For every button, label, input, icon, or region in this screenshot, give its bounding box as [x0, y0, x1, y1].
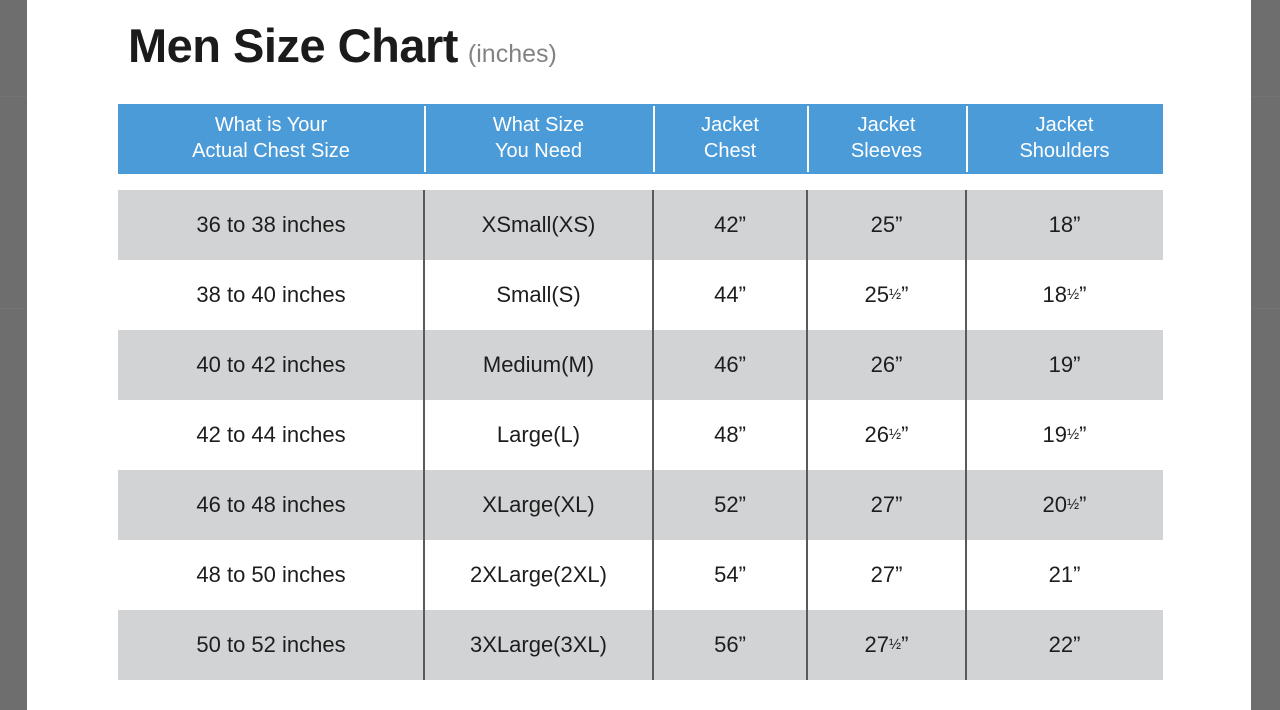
table-body: 36 to 38 inchesXSmall(XS)42”25”18”38 to … — [118, 190, 1163, 680]
table-row: 48 to 50 inches2XLarge(2XL)54”27”21” — [118, 540, 1163, 610]
cell-size-you-need: XSmall(XS) — [424, 190, 653, 260]
cell-actual-chest-size: 50 to 52 inches — [118, 610, 424, 680]
cell-jacket-shoulders: 19” — [966, 330, 1163, 400]
cell-jacket-sleeves: 25½” — [807, 260, 966, 330]
cell-jacket-shoulders: 18” — [966, 190, 1163, 260]
cell-jacket-sleeves: 26” — [807, 330, 966, 400]
column-header-line1: What Size — [493, 113, 584, 139]
cell-size-you-need: Small(S) — [424, 260, 653, 330]
page-title-main: Men Size Chart — [128, 22, 458, 69]
cell-jacket-chest: 48” — [653, 400, 807, 470]
table-row: 40 to 42 inchesMedium(M)46”26”19” — [118, 330, 1163, 400]
column-header-line2: Shoulders — [1019, 139, 1109, 165]
letterbox-right — [1251, 0, 1280, 710]
cell-actual-chest-size: 38 to 40 inches — [118, 260, 424, 330]
screenshot-root: Men Size Chart (inches) What is Your Act… — [0, 0, 1280, 710]
table-row: 36 to 38 inchesXSmall(XS)42”25”18” — [118, 190, 1163, 260]
table-row: 46 to 48 inchesXLarge(XL)52”27”20½” — [118, 470, 1163, 540]
cell-jacket-sleeves: 27” — [807, 540, 966, 610]
letterbox-seam — [1251, 308, 1280, 309]
letterbox-seam — [0, 308, 27, 309]
page-title: Men Size Chart (inches) — [128, 22, 557, 69]
cell-jacket-chest: 44” — [653, 260, 807, 330]
cell-actual-chest-size: 40 to 42 inches — [118, 330, 424, 400]
letterbox-left — [0, 0, 27, 710]
cell-jacket-chest: 52” — [653, 470, 807, 540]
cell-size-you-need: Large(L) — [424, 400, 653, 470]
cell-actual-chest-size: 46 to 48 inches — [118, 470, 424, 540]
column-header-line2: You Need — [495, 139, 582, 165]
column-header-jacket-shoulders: Jacket Shoulders — [966, 104, 1163, 174]
cell-jacket-sleeves: 27” — [807, 470, 966, 540]
content-sheet: Men Size Chart (inches) What is Your Act… — [27, 0, 1251, 710]
column-header-jacket-chest: Jacket Chest — [653, 104, 807, 174]
cell-jacket-shoulders: 22” — [966, 610, 1163, 680]
cell-jacket-sleeves: 25” — [807, 190, 966, 260]
column-header-actual-chest-size: What is Your Actual Chest Size — [118, 104, 424, 174]
cell-jacket-shoulders: 18½” — [966, 260, 1163, 330]
cell-jacket-chest: 54” — [653, 540, 807, 610]
cell-actual-chest-size: 36 to 38 inches — [118, 190, 424, 260]
cell-size-you-need: 3XLarge(3XL) — [424, 610, 653, 680]
cell-jacket-sleeves: 27½” — [807, 610, 966, 680]
cell-jacket-chest: 46” — [653, 330, 807, 400]
cell-jacket-sleeves: 26½” — [807, 400, 966, 470]
cell-size-you-need: Medium(M) — [424, 330, 653, 400]
cell-jacket-chest: 42” — [653, 190, 807, 260]
column-header-line1: What is Your — [215, 113, 327, 139]
column-header-line2: Actual Chest Size — [192, 139, 350, 165]
table-header-row: What is Your Actual Chest Size What Size… — [118, 104, 1163, 174]
letterbox-seam — [1251, 96, 1280, 97]
cell-jacket-chest: 56” — [653, 610, 807, 680]
letterbox-seam — [0, 96, 27, 97]
cell-actual-chest-size: 48 to 50 inches — [118, 540, 424, 610]
cell-jacket-shoulders: 20½” — [966, 470, 1163, 540]
table-row: 50 to 52 inches3XLarge(3XL)56”27½”22” — [118, 610, 1163, 680]
size-chart-table: What is Your Actual Chest Size What Size… — [118, 104, 1163, 680]
column-header-line1: Jacket — [1036, 113, 1094, 139]
table-row: 38 to 40 inchesSmall(S)44”25½”18½” — [118, 260, 1163, 330]
cell-size-you-need: XLarge(XL) — [424, 470, 653, 540]
column-header-size-you-need: What Size You Need — [424, 104, 653, 174]
column-header-jacket-sleeves: Jacket Sleeves — [807, 104, 966, 174]
cell-size-you-need: 2XLarge(2XL) — [424, 540, 653, 610]
column-header-line2: Chest — [704, 139, 756, 165]
cell-jacket-shoulders: 19½” — [966, 400, 1163, 470]
column-header-line1: Jacket — [701, 113, 759, 139]
column-header-line2: Sleeves — [851, 139, 922, 165]
column-header-line1: Jacket — [858, 113, 916, 139]
cell-jacket-shoulders: 21” — [966, 540, 1163, 610]
table-row: 42 to 44 inchesLarge(L)48”26½”19½” — [118, 400, 1163, 470]
cell-actual-chest-size: 42 to 44 inches — [118, 400, 424, 470]
page-title-units: (inches) — [468, 42, 557, 67]
